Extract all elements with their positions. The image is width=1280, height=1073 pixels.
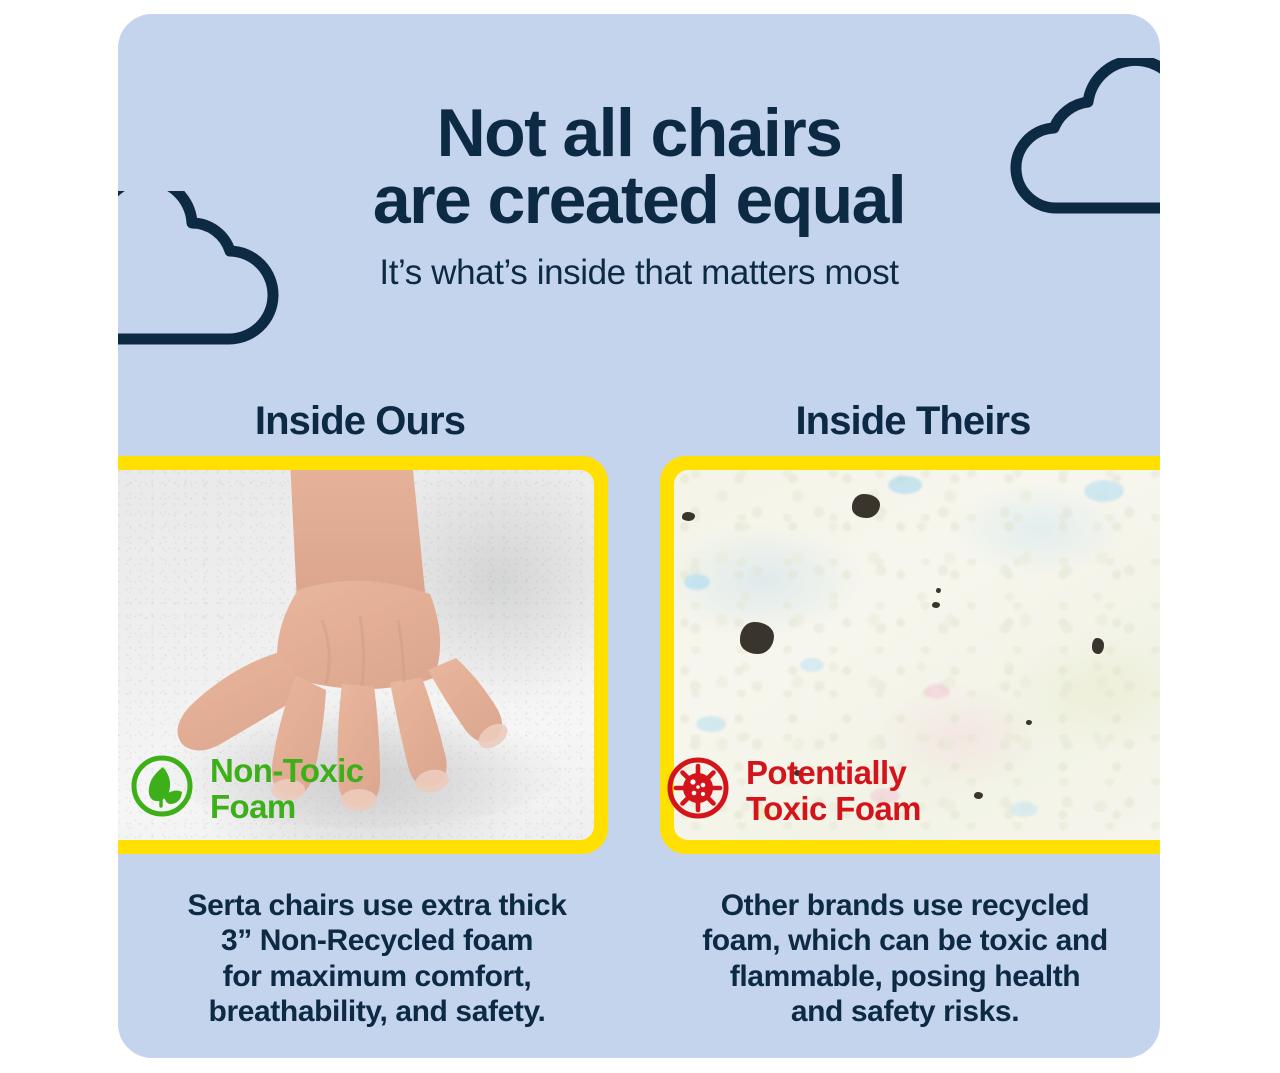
leaf-icon xyxy=(130,754,194,823)
badge-potentially-toxic: Potentially Toxic Foam xyxy=(666,755,921,826)
badge-non-toxic: Non-Toxic Foam xyxy=(130,753,363,824)
subheadline: It’s what’s inside that matters most xyxy=(118,253,1160,293)
photo-panel-theirs: Potentially Toxic Foam xyxy=(660,456,1160,854)
headline-block: Not all chairs are created equal It’s wh… xyxy=(118,100,1160,293)
column-title-ours: Inside Ours xyxy=(118,394,608,456)
column-title-theirs: Inside Theirs xyxy=(660,394,1160,456)
badge-label-non-toxic: Non-Toxic Foam xyxy=(210,753,363,824)
photo-panel-ours: Non-Toxic Foam xyxy=(118,456,608,854)
headline-line-2: are created equal xyxy=(118,167,1160,234)
column-ours: Inside Ours xyxy=(118,394,608,1030)
badge-label-potentially-toxic: Potentially Toxic Foam xyxy=(746,755,921,826)
headline-line-1: Not all chairs xyxy=(118,100,1160,167)
promo-card: Not all chairs are created equal It’s wh… xyxy=(118,14,1160,1058)
infographic-stage: Not all chairs are created equal It’s wh… xyxy=(0,0,1280,1073)
column-theirs: Inside Theirs xyxy=(660,394,1160,1030)
caption-theirs: Other brands use recycled foam, which ca… xyxy=(660,888,1160,1030)
virus-icon xyxy=(666,756,730,825)
caption-ours: Serta chairs use extra thick 3” Non-Recy… xyxy=(118,888,608,1030)
